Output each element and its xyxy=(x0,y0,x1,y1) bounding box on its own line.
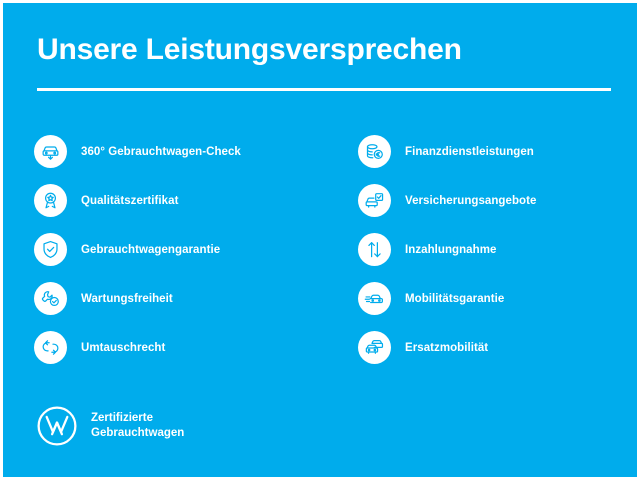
footer-logo-lockup: Zertifizierte Gebrauchtwagen xyxy=(36,405,184,447)
promises-slide: Unsere Leistungsversprechen 360° Gebrauc… xyxy=(3,3,637,477)
promise-label: 360° Gebrauchtwagen-Check xyxy=(81,146,241,158)
wrench-check-icon xyxy=(34,282,67,315)
vw-logo-icon xyxy=(36,405,78,447)
footer-logo-line1: Zertifizierte xyxy=(91,412,153,424)
promises-column-right: Finanzdienstleistungen Versicherungsange… xyxy=(358,127,637,372)
up-down-arrows-icon xyxy=(358,233,391,266)
car-document-check-icon xyxy=(358,184,391,217)
promise-item-finanzdienstleistungen: Finanzdienstleistungen xyxy=(358,127,637,176)
promise-label: Wartungsfreiheit xyxy=(81,293,173,305)
page-title: Unsere Leistungsversprechen xyxy=(37,31,611,69)
promise-item-ersatzmobilitaet: Ersatzmobilität xyxy=(358,323,637,372)
footer-logo-text: Zertifizierte Gebrauchtwagen xyxy=(91,411,184,441)
promise-item-wartungsfreiheit: Wartungsfreiheit xyxy=(34,274,324,323)
two-cars-icon xyxy=(358,331,391,364)
promise-label: Gebrauchtwagengarantie xyxy=(81,244,220,256)
promise-label: Ersatzmobilität xyxy=(405,342,488,354)
coins-euro-icon xyxy=(358,135,391,168)
promise-label: Umtauschrecht xyxy=(81,342,165,354)
title-divider xyxy=(37,88,611,91)
promise-label: Mobilitätsgarantie xyxy=(405,293,504,305)
car-motion-icon xyxy=(358,282,391,315)
promise-label: Versicherungsangebote xyxy=(405,195,536,207)
shield-check-icon xyxy=(34,233,67,266)
footer-logo-line2: Gebrauchtwagen xyxy=(91,427,184,439)
promise-item-qualitaetszertifikat: Qualitätszertifikat xyxy=(34,176,324,225)
promise-item-mobilitaetsgarantie: Mobilitätsgarantie xyxy=(358,274,637,323)
promise-item-versicherungsangebote: Versicherungsangebote xyxy=(358,176,637,225)
promise-item-gebrauchtwagengarantie: Gebrauchtwagengarantie xyxy=(34,225,324,274)
slide-header: Unsere Leistungsversprechen xyxy=(37,31,611,91)
promises-column-left: 360° Gebrauchtwagen-Check Qualitätszerti… xyxy=(34,127,324,372)
promise-label: Finanzdienstleistungen xyxy=(405,146,534,158)
car-inspection-icon xyxy=(34,135,67,168)
promise-label: Qualitätszertifikat xyxy=(81,195,178,207)
promise-item-umtauschrecht: Umtauschrecht xyxy=(34,323,324,372)
promise-label: Inzahlungnahme xyxy=(405,244,496,256)
exchange-arrows-icon xyxy=(34,331,67,364)
promise-item-inzahlungnahme: Inzahlungnahme xyxy=(358,225,637,274)
quality-rosette-icon xyxy=(34,184,67,217)
promise-item-gebrauchtwagen-check: 360° Gebrauchtwagen-Check xyxy=(34,127,324,176)
